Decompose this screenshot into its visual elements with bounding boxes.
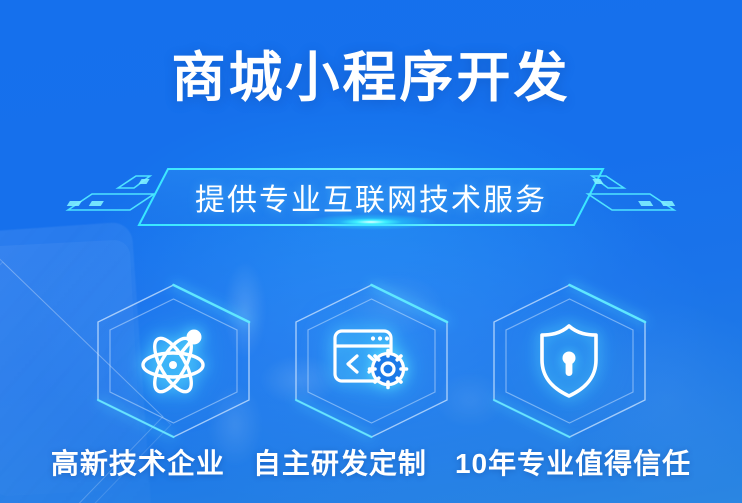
feature-item: [289, 282, 454, 440]
subtitle-banner: 提供专业互联网技术服务: [0, 168, 742, 230]
feature-label-0: 高新技术企业: [51, 442, 225, 482]
hexagon-frame: [289, 282, 454, 440]
feature-item: [91, 282, 256, 440]
hexagon-frame: [487, 282, 652, 440]
atom-icon: [91, 282, 256, 440]
code-gear-icon: [289, 282, 454, 440]
hexagon-frame: [91, 282, 256, 440]
feature-item: [487, 282, 652, 440]
feature-label-row: 高新技术企业 自主研发定制 10年专业值得信任: [0, 442, 742, 482]
feature-label-1: 自主研发定制: [253, 442, 427, 482]
page-title: 商城小程序开发: [0, 50, 742, 107]
promo-banner: 商城小程序开发: [0, 0, 742, 503]
feature-icon-row: [0, 282, 742, 440]
shield-lock-icon: [487, 282, 652, 440]
feature-label-2: 10年专业值得信任: [455, 442, 691, 482]
tech-bracket-right-icon: [564, 172, 684, 226]
